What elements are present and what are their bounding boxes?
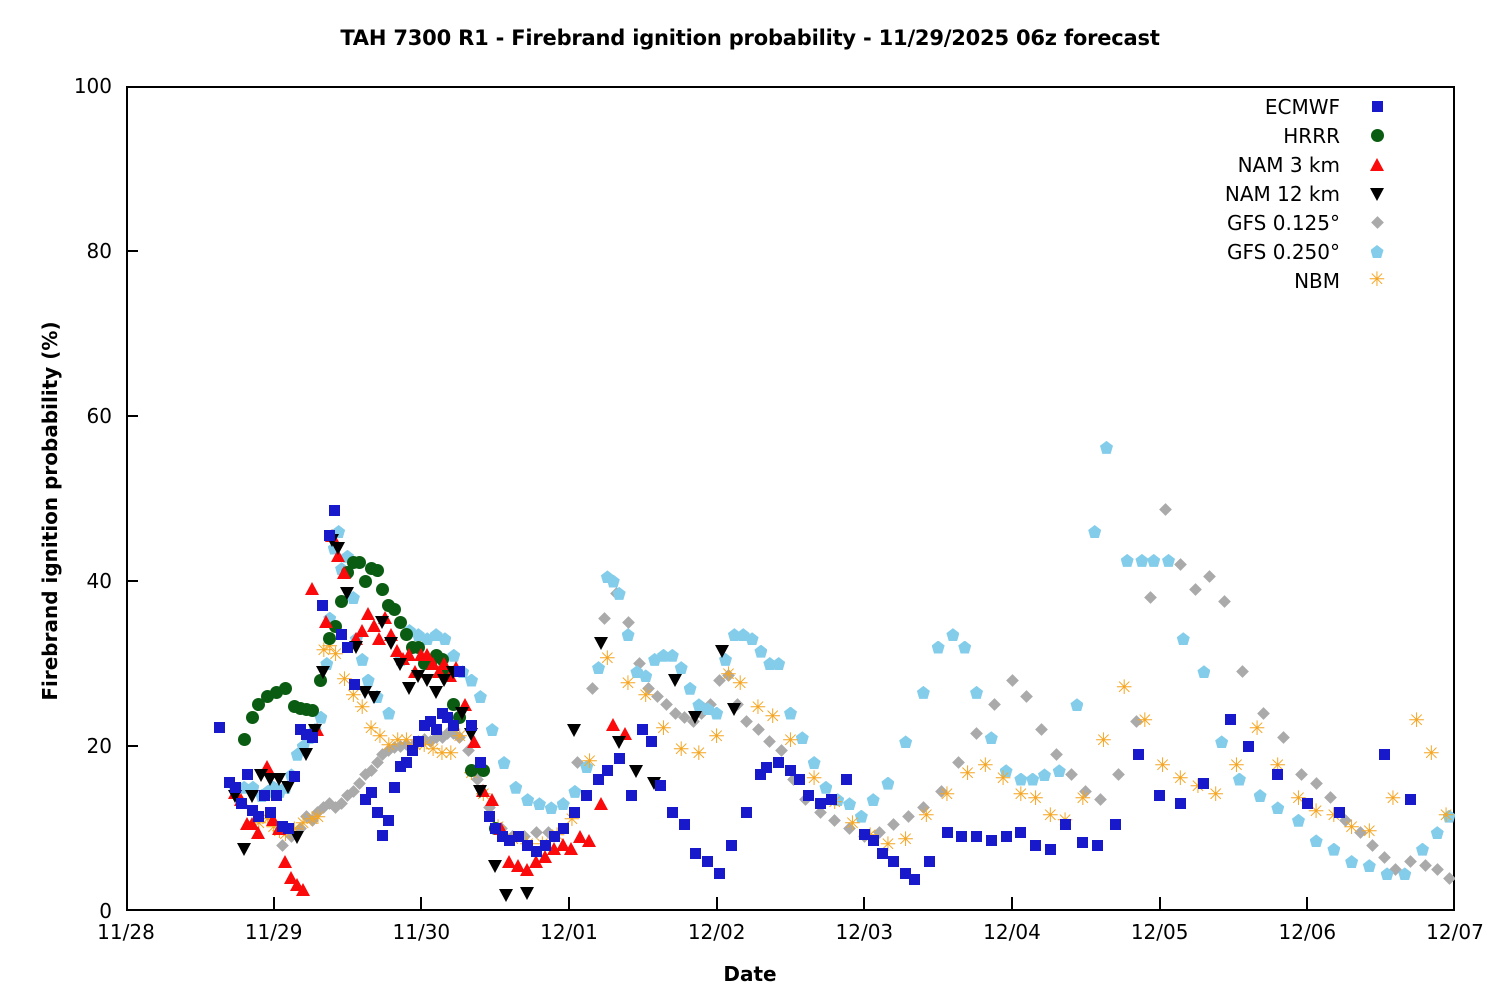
data-point — [675, 661, 688, 674]
data-point — [359, 769, 372, 782]
data-point — [294, 702, 307, 715]
data-point — [382, 707, 395, 720]
data-point — [499, 889, 513, 902]
data-point — [594, 637, 608, 650]
data-point — [290, 878, 304, 891]
data-point — [317, 802, 330, 815]
data-point — [1225, 714, 1236, 725]
data-point — [601, 570, 614, 583]
data-point — [425, 716, 436, 727]
data-point — [646, 736, 657, 747]
data-point — [708, 729, 725, 746]
data-point — [855, 810, 868, 823]
data-point — [279, 781, 292, 794]
data-point — [540, 840, 551, 851]
data-point — [406, 641, 419, 654]
data-point — [704, 698, 717, 711]
data-point — [1000, 764, 1013, 777]
data-point — [384, 637, 398, 650]
data-point — [732, 676, 749, 693]
data-point — [449, 661, 463, 674]
data-point — [320, 657, 333, 670]
data-point — [702, 856, 713, 867]
data-point — [722, 670, 735, 683]
data-point — [1236, 665, 1249, 678]
square-icon — [1372, 101, 1383, 112]
data-point — [881, 777, 894, 790]
data-point — [1116, 680, 1133, 697]
data-point — [547, 842, 561, 855]
y-tick-label: 80 — [87, 239, 112, 263]
data-point — [826, 795, 843, 812]
data-point — [1057, 813, 1074, 830]
data-point — [719, 653, 732, 666]
data-point — [276, 839, 289, 852]
data-point — [443, 669, 457, 682]
data-point — [720, 667, 737, 684]
y-tick-label: 60 — [87, 404, 112, 428]
data-point — [932, 641, 945, 654]
data-point — [341, 550, 354, 563]
data-point — [1379, 749, 1390, 760]
x-tick-label: 11/29 — [245, 920, 303, 944]
data-point — [630, 665, 643, 678]
data-point — [442, 712, 453, 723]
data-point — [228, 790, 242, 803]
data-point — [688, 711, 702, 724]
data-point — [378, 611, 392, 624]
data-point — [252, 698, 265, 711]
data-point — [447, 727, 460, 740]
data-point — [648, 653, 661, 666]
data-point — [394, 616, 407, 629]
legend-item-gfs-0-125[interactable]: GFS 0.125° — [1150, 208, 1400, 237]
data-point — [260, 760, 274, 773]
data-point — [418, 733, 431, 746]
data-point — [841, 774, 852, 785]
data-point — [815, 798, 826, 809]
data-point — [958, 641, 971, 654]
data-point — [465, 674, 478, 687]
data-point — [1050, 748, 1063, 761]
legend-item-label: NBM — [1294, 269, 1340, 293]
data-point — [300, 703, 313, 716]
data-point — [453, 711, 466, 724]
data-point — [754, 645, 767, 658]
data-point — [277, 827, 294, 844]
data-point — [306, 704, 319, 717]
data-point — [245, 790, 259, 803]
data-point — [858, 830, 871, 843]
data-point — [620, 676, 637, 693]
data-point — [335, 797, 348, 810]
data-point — [332, 525, 345, 538]
data-point — [1366, 839, 1379, 852]
chart-title: TAH 7300 R1 - Firebrand ignition probabi… — [0, 26, 1500, 50]
data-point — [917, 686, 930, 699]
data-point — [799, 793, 812, 806]
data-point — [521, 793, 534, 806]
data-point — [917, 802, 930, 815]
data-point — [971, 831, 982, 842]
data-point — [390, 644, 404, 657]
data-point — [1092, 840, 1103, 851]
data-point — [843, 797, 856, 810]
data-point — [366, 787, 377, 798]
data-point — [935, 785, 948, 798]
data-point — [1189, 583, 1202, 596]
data-point — [358, 686, 372, 699]
x-axis-label: Date — [0, 962, 1500, 986]
data-point — [250, 816, 267, 833]
data-point — [1277, 731, 1290, 744]
data-point — [1203, 571, 1216, 584]
data-point — [1077, 837, 1088, 848]
legend-item-hrrr[interactable]: HRRR — [1150, 121, 1400, 150]
data-point — [1088, 525, 1101, 538]
data-point — [454, 666, 465, 677]
data-point — [291, 748, 304, 761]
data-point — [1175, 798, 1186, 809]
data-point — [408, 665, 422, 678]
data-point — [1272, 769, 1283, 780]
data-point — [331, 549, 345, 562]
data-point — [692, 698, 705, 711]
data-point — [1035, 723, 1048, 736]
data-point — [394, 653, 407, 666]
y-tick-label: 40 — [87, 569, 112, 593]
data-point — [279, 682, 292, 695]
data-point — [362, 674, 375, 687]
data-point — [403, 624, 416, 637]
data-point — [545, 801, 558, 814]
data-point — [295, 724, 306, 735]
legend-item-nbm[interactable]: NBM — [1150, 266, 1400, 295]
data-point — [1233, 773, 1246, 786]
data-point — [728, 628, 741, 641]
data-point — [859, 829, 870, 840]
data-point — [995, 771, 1012, 788]
data-point — [431, 724, 442, 735]
data-point — [549, 828, 566, 845]
data-point — [679, 819, 690, 830]
data-point — [240, 817, 254, 830]
data-point — [451, 729, 468, 746]
data-point — [1243, 741, 1254, 752]
data-point — [465, 764, 478, 777]
data-point — [775, 744, 788, 757]
data-point — [337, 566, 351, 579]
data-point — [530, 826, 543, 839]
data-point — [1443, 872, 1455, 885]
data-point — [234, 793, 248, 806]
legend-item-label: GFS 0.250° — [1227, 240, 1340, 264]
x-tick-label: 12/07 — [1426, 920, 1484, 944]
data-point — [340, 587, 354, 600]
data-point — [602, 765, 613, 776]
data-point — [436, 653, 449, 666]
data-point — [794, 774, 805, 785]
data-point — [899, 735, 912, 748]
data-point — [395, 761, 406, 772]
data-point — [278, 855, 292, 868]
data-point — [844, 816, 861, 833]
data-point — [612, 736, 626, 749]
data-point — [862, 828, 879, 845]
data-point — [267, 781, 280, 794]
data-point — [660, 698, 673, 711]
data-point — [868, 835, 879, 846]
data-point — [383, 815, 394, 826]
data-point — [353, 556, 366, 569]
data-point — [715, 645, 729, 658]
data-point — [325, 534, 339, 547]
data-point — [1381, 867, 1394, 880]
data-point — [398, 733, 415, 750]
data-point — [446, 666, 460, 679]
legend-item-nam-3-km[interactable]: NAM 3 km — [1150, 150, 1400, 179]
data-point — [1177, 632, 1190, 645]
data-point — [411, 670, 425, 683]
data-point — [618, 727, 632, 740]
data-point — [342, 642, 353, 653]
legend-item-label: HRRR — [1283, 124, 1340, 148]
data-point — [316, 666, 330, 679]
data-point — [985, 731, 998, 744]
data-point — [1254, 789, 1267, 802]
data-point — [259, 812, 276, 829]
data-point — [458, 698, 472, 711]
data-point — [988, 698, 1001, 711]
data-point — [477, 764, 490, 777]
legend-diamond-icon — [1354, 211, 1400, 235]
data-point — [305, 582, 319, 595]
data-point — [329, 620, 342, 633]
data-point — [412, 736, 425, 749]
x-tick-label: 12/01 — [540, 920, 598, 944]
data-point — [610, 587, 623, 600]
data-point — [473, 785, 487, 798]
data-point — [483, 802, 496, 815]
data-point — [463, 766, 480, 783]
data-point — [1121, 554, 1134, 567]
data-point — [467, 735, 481, 748]
data-point — [773, 757, 784, 768]
data-point — [1074, 791, 1091, 808]
data-point — [666, 649, 679, 662]
data-point — [873, 826, 886, 839]
data-point — [1325, 791, 1338, 804]
data-point — [263, 773, 277, 786]
data-point — [341, 789, 354, 802]
data-point — [475, 787, 492, 804]
data-point — [888, 856, 899, 867]
data-point — [1198, 778, 1209, 789]
data-point — [301, 729, 312, 740]
data-point — [437, 674, 451, 687]
data-point — [363, 721, 380, 738]
data-point — [416, 738, 433, 755]
data-point — [447, 698, 460, 711]
data-point — [230, 782, 241, 793]
legend-item-nam-12-km[interactable]: NAM 12 km — [1150, 179, 1400, 208]
data-point — [365, 562, 378, 575]
data-point — [509, 781, 522, 794]
data-point — [582, 834, 596, 847]
data-point — [1269, 758, 1286, 775]
data-point — [224, 777, 235, 788]
data-point — [1060, 819, 1071, 830]
data-point — [1144, 591, 1157, 604]
data-point — [741, 807, 752, 818]
data-point — [380, 738, 397, 755]
data-point — [642, 682, 655, 695]
data-point — [518, 830, 531, 843]
data-point — [557, 797, 570, 810]
data-point — [371, 729, 388, 746]
data-point — [1215, 735, 1228, 748]
data-point — [315, 643, 332, 660]
legend-item-ecmwf[interactable]: ECMWF — [1150, 92, 1400, 121]
data-point — [1378, 851, 1391, 864]
data-point — [484, 811, 495, 822]
pentagon-icon — [1371, 245, 1384, 258]
data-point — [384, 628, 398, 641]
data-point — [426, 657, 440, 670]
legend-item-label: GFS 0.125° — [1227, 211, 1340, 235]
data-point — [447, 649, 460, 662]
data-point — [782, 733, 799, 750]
data-point — [504, 832, 521, 849]
data-point — [285, 830, 298, 843]
data-point — [265, 807, 276, 818]
y-tick-label: 100 — [74, 74, 112, 98]
data-point — [696, 707, 709, 720]
data-point — [308, 724, 322, 737]
data-point — [314, 674, 327, 687]
data-point — [952, 756, 965, 769]
data-point — [294, 822, 307, 835]
firebrand-ignition-probability-chart: TAH 7300 R1 - Firebrand ignition probabi… — [0, 0, 1500, 1000]
data-point — [261, 690, 274, 703]
data-point — [806, 771, 823, 788]
data-point — [986, 835, 997, 846]
data-point — [737, 628, 750, 641]
data-point — [1172, 771, 1189, 788]
data-point — [236, 798, 247, 809]
data-point — [568, 785, 581, 798]
data-point — [819, 781, 832, 794]
data-point — [558, 823, 569, 834]
data-point — [1325, 808, 1342, 825]
data-point — [1112, 769, 1125, 782]
data-point — [430, 649, 443, 662]
legend-item-label: ECMWF — [1265, 95, 1340, 119]
data-point — [498, 756, 511, 769]
data-point — [289, 771, 300, 782]
data-point — [306, 814, 319, 827]
data-point — [407, 745, 418, 756]
data-point — [365, 764, 378, 777]
data-point — [489, 822, 502, 835]
data-point — [261, 785, 274, 798]
data-point — [304, 812, 321, 829]
data-point — [1416, 843, 1429, 856]
data-point — [956, 831, 967, 842]
data-point — [412, 641, 425, 654]
data-point — [303, 731, 316, 744]
data-point — [750, 700, 767, 717]
legend-item-label: NAM 12 km — [1225, 182, 1340, 206]
data-point — [1249, 721, 1266, 738]
data-point — [1197, 665, 1210, 678]
data-point — [432, 665, 446, 678]
data-point — [764, 709, 781, 726]
data-point — [1190, 779, 1207, 796]
data-point — [266, 813, 280, 826]
data-point — [437, 708, 448, 719]
data-point — [350, 632, 363, 645]
data-point — [814, 806, 827, 819]
data-point — [246, 781, 259, 794]
data-point — [657, 649, 670, 662]
circle-icon — [1371, 129, 1384, 142]
data-point — [414, 648, 428, 661]
data-point — [511, 859, 525, 872]
data-point — [1094, 793, 1107, 806]
data-point — [761, 762, 772, 773]
data-point — [453, 731, 466, 744]
legend-item-gfs-0-250[interactable]: GFS 0.250° — [1150, 237, 1400, 266]
data-point — [1334, 807, 1345, 818]
data-point — [418, 657, 431, 670]
data-point — [297, 740, 310, 753]
data-point — [486, 723, 499, 736]
data-point — [669, 707, 682, 720]
data-point — [879, 837, 896, 854]
data-point — [581, 754, 598, 771]
data-point — [1310, 777, 1323, 790]
data-point — [497, 831, 508, 842]
data-point — [1438, 808, 1455, 825]
data-point — [1026, 773, 1039, 786]
data-point — [755, 769, 766, 780]
data-point — [285, 768, 298, 781]
data-point — [413, 736, 424, 747]
data-point — [286, 822, 303, 839]
data-point — [336, 629, 347, 640]
data-point — [1419, 859, 1432, 872]
data-point — [347, 556, 360, 569]
data-point — [726, 840, 737, 851]
data-point — [367, 691, 381, 704]
data-point — [939, 787, 956, 804]
data-point — [507, 830, 520, 843]
data-point — [367, 619, 381, 632]
data-point — [1012, 787, 1029, 804]
data-point — [1408, 713, 1425, 730]
data-point — [476, 784, 490, 797]
data-point — [265, 820, 282, 837]
x-tick-label: 11/30 — [393, 920, 451, 944]
data-point — [336, 672, 353, 689]
data-point — [710, 707, 723, 720]
data-point — [237, 843, 251, 856]
data-point — [1042, 808, 1059, 825]
data-point — [626, 790, 637, 801]
data-point — [389, 782, 400, 793]
data-point — [542, 826, 555, 839]
